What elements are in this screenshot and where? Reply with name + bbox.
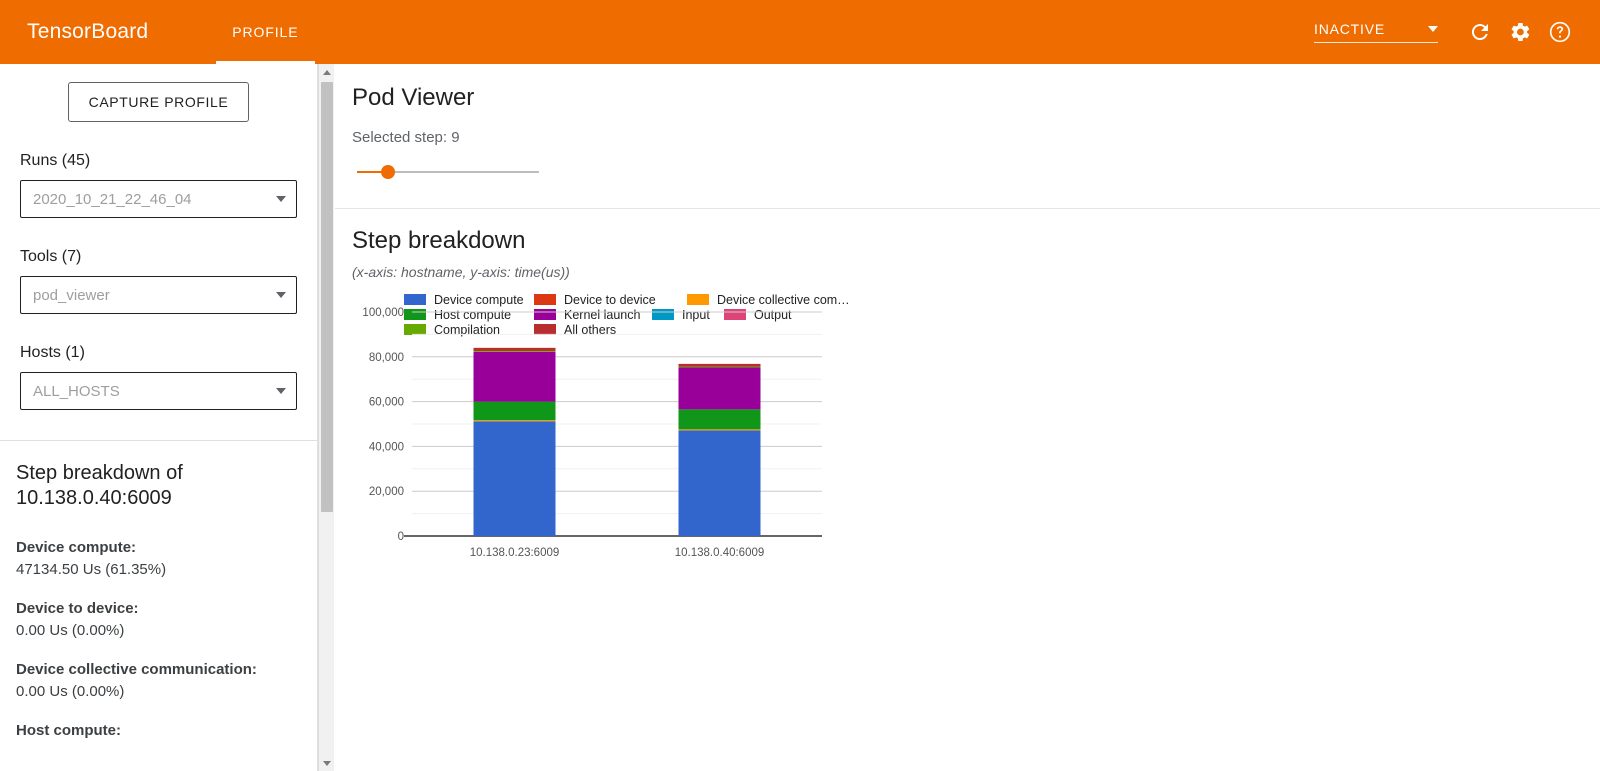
x-axis-tick-label: 10.138.0.23:6009 — [470, 547, 560, 559]
svg-text:60,000: 60,000 — [369, 397, 404, 409]
top-app-bar: TensorBoard PROFILE INACTIVE — [0, 0, 1600, 64]
card-subtitle: (x-axis: hostname, y-axis: time(us)) — [352, 264, 1600, 280]
chevron-down-icon — [276, 292, 286, 298]
svg-text:40,000: 40,000 — [369, 441, 404, 453]
chevron-up-icon — [323, 70, 331, 75]
card-title: Step breakdown — [352, 227, 1600, 255]
tools-select-value: pod_viewer — [33, 287, 276, 304]
runs-select-value: 2020_10_21_22_46_04 — [33, 191, 276, 208]
help-button[interactable] — [1540, 12, 1580, 52]
chart-plot-area: 020,00040,00060,00080,000100,00010.138.0… — [352, 292, 1252, 592]
detail-value: 0.00 Us (0.00%) — [16, 681, 301, 703]
status-dropdown-value: INACTIVE — [1314, 21, 1385, 37]
refresh-button[interactable] — [1460, 12, 1500, 52]
slider-thumb[interactable] — [381, 165, 395, 179]
svg-text:20,000: 20,000 — [369, 486, 404, 498]
scroll-down-button[interactable] — [319, 755, 335, 771]
chevron-down-icon — [1428, 26, 1438, 32]
app-brand: TensorBoard — [27, 20, 148, 44]
capture-profile-wrap: CAPTURE PROFILE — [0, 64, 317, 122]
hosts-field: Hosts (1) ALL_HOSTS — [0, 344, 317, 410]
detail-item: Device compute: 47134.50 Us (61.35%) — [16, 537, 301, 581]
chevron-down-icon — [276, 196, 286, 202]
detail-value: 0.00 Us (0.00%) — [16, 620, 301, 642]
bar-segment — [679, 367, 761, 368]
step-breakdown-details: Step breakdown of 10.138.0.40:6009 Devic… — [0, 441, 317, 741]
nav-tabs: PROFILE — [216, 0, 314, 64]
hosts-label: Hosts (1) — [20, 344, 297, 362]
tools-label: Tools (7) — [20, 248, 297, 266]
help-icon — [1548, 20, 1572, 44]
svg-text:80,000: 80,000 — [369, 352, 404, 364]
runs-field: Runs (45) 2020_10_21_22_46_04 — [0, 152, 317, 218]
capture-profile-button[interactable]: CAPTURE PROFILE — [68, 82, 250, 122]
step-breakdown-card: Step breakdown (x-axis: hostname, y-axis… — [335, 209, 1600, 592]
bar-segment — [679, 367, 761, 409]
detail-key: Device compute: — [16, 537, 301, 558]
bar-segment — [679, 364, 761, 367]
gear-icon — [1508, 20, 1532, 44]
tab-profile[interactable]: PROFILE — [216, 0, 314, 64]
bar-segment — [679, 409, 761, 429]
detail-value: 47134.50 Us (61.35%) — [16, 559, 301, 581]
detail-item: Host compute: — [16, 720, 301, 741]
topbar-actions: INACTIVE — [1314, 12, 1600, 52]
bar-segment — [474, 421, 556, 536]
svg-text:100,000: 100,000 — [362, 307, 404, 319]
scroll-up-button[interactable] — [319, 64, 335, 80]
chevron-down-icon — [276, 388, 286, 394]
bar-segment — [474, 351, 556, 352]
tools-field: Tools (7) pod_viewer — [0, 248, 317, 314]
bar-segment — [679, 429, 761, 430]
main-content: Pod Viewer Selected step: 9 Step breakdo… — [335, 64, 1600, 771]
detail-key: Host compute: — [16, 720, 301, 741]
runs-select[interactable]: 2020_10_21_22_46_04 — [20, 180, 297, 218]
sidebar-scrollbar[interactable] — [318, 64, 334, 771]
chevron-down-icon — [323, 761, 331, 766]
hosts-select-value: ALL_HOSTS — [33, 383, 276, 400]
sidebar: CAPTURE PROFILE Runs (45) 2020_10_21_22_… — [0, 64, 318, 771]
step-breakdown-chart: Device compute Device to device Device c… — [352, 292, 1252, 592]
detail-key: Device to device: — [16, 598, 301, 619]
bar-segment — [679, 430, 761, 536]
x-axis-tick-label: 10.138.0.40:6009 — [675, 547, 765, 559]
selected-step-label: Selected step: 9 — [352, 129, 1600, 146]
tab-profile-label: PROFILE — [232, 24, 298, 40]
detail-key: Device collective communication: — [16, 659, 301, 680]
scrollbar-thumb[interactable] — [321, 82, 333, 512]
refresh-icon — [1468, 20, 1492, 44]
bar-segment — [474, 402, 556, 421]
step-slider[interactable] — [357, 162, 547, 182]
svg-text:0: 0 — [398, 531, 404, 543]
bar-segment — [474, 420, 556, 421]
settings-button[interactable] — [1500, 12, 1540, 52]
page-title: Pod Viewer — [352, 84, 1600, 112]
detail-item: Device to device: 0.00 Us (0.00%) — [16, 598, 301, 642]
hosts-select[interactable]: ALL_HOSTS — [20, 372, 297, 410]
tools-select[interactable]: pod_viewer — [20, 276, 297, 314]
detail-panel-title: Step breakdown of 10.138.0.40:6009 — [16, 461, 301, 511]
bar-segment — [474, 348, 556, 351]
bar-segment — [474, 352, 556, 402]
runs-label: Runs (45) — [20, 152, 297, 170]
status-dropdown[interactable]: INACTIVE — [1314, 21, 1438, 43]
detail-item: Device collective communication: 0.00 Us… — [16, 659, 301, 703]
